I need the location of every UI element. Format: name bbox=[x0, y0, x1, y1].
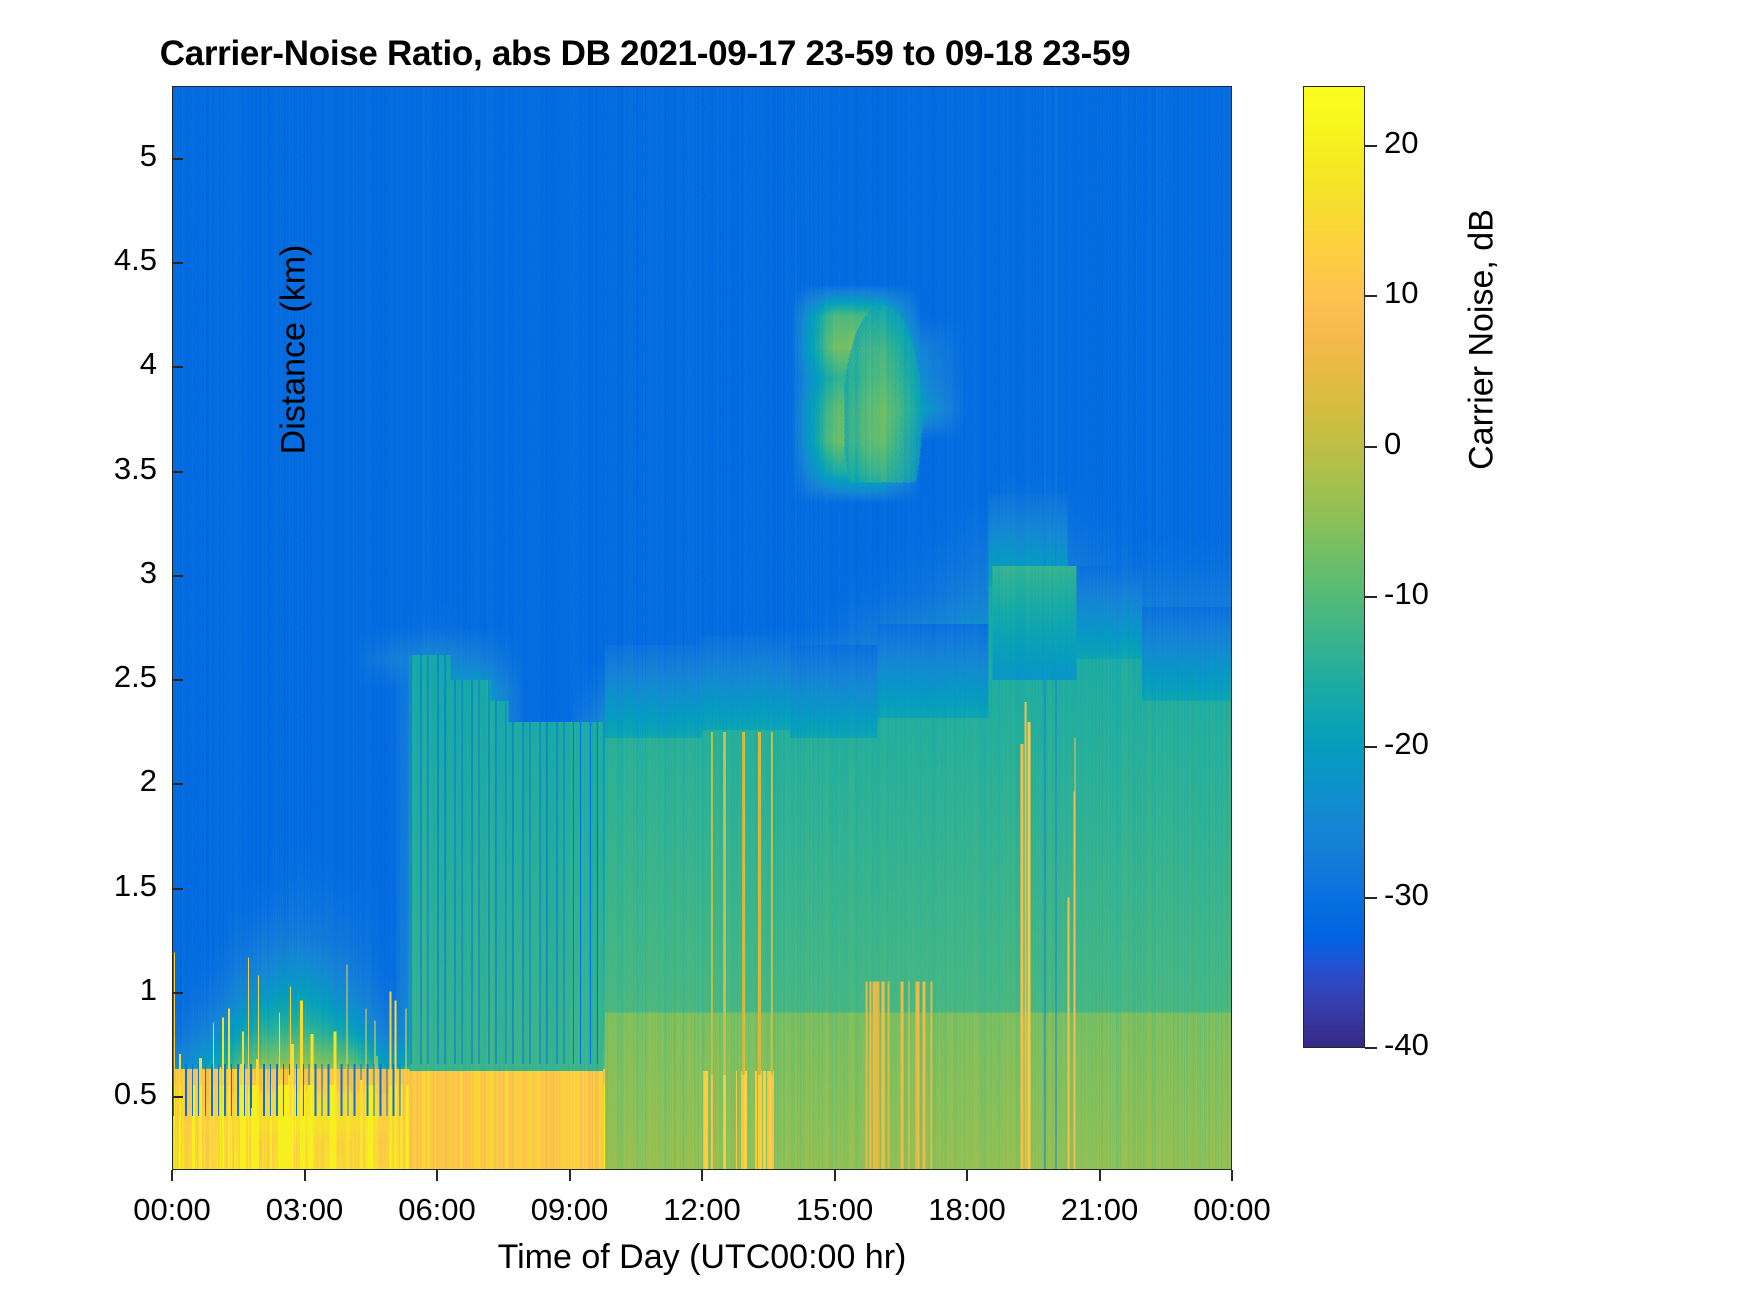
x-tick-mark bbox=[569, 1170, 571, 1181]
colorbar-tick-mark bbox=[1365, 746, 1377, 748]
colorbar-label-wrapper: Carrier Noise, dB bbox=[1452, 320, 1512, 840]
colorbar-tick-mark bbox=[1365, 446, 1377, 448]
colorbar-tick-label: -10 bbox=[1384, 576, 1429, 612]
colorbar-tick-mark bbox=[1365, 596, 1377, 598]
y-tick-label: 0.5 bbox=[0, 1076, 157, 1112]
colorbar-tick-label: 0 bbox=[1384, 426, 1401, 462]
colorbar-gradient bbox=[1304, 87, 1364, 1047]
x-tick-mark bbox=[436, 1170, 438, 1181]
colorbar-tick-mark bbox=[1365, 295, 1377, 297]
colorbar-tick-mark bbox=[1365, 897, 1377, 899]
colorbar-tick-mark bbox=[1365, 145, 1377, 147]
x-axis-label: Time of Day (UTC00:00 hr) bbox=[172, 1238, 1232, 1277]
y-tick-mark bbox=[172, 783, 183, 785]
y-tick-mark bbox=[172, 679, 183, 681]
colorbar-tick-label: 10 bbox=[1384, 275, 1418, 311]
y-tick-mark bbox=[172, 262, 183, 264]
x-tick-mark bbox=[304, 1170, 306, 1181]
y-tick-mark bbox=[172, 158, 183, 160]
colorbar-label: Carrier Noise, dB bbox=[1463, 80, 1502, 600]
heatmap-canvas bbox=[173, 87, 1231, 1169]
colorbar-tick-label: 20 bbox=[1384, 125, 1418, 161]
y-tick-mark bbox=[172, 1096, 183, 1098]
x-tick-label: 00:00 bbox=[1142, 1192, 1322, 1228]
colorbar-tick-label: -20 bbox=[1384, 726, 1429, 762]
y-tick-mark bbox=[172, 471, 183, 473]
y-tick-label: 4.5 bbox=[0, 242, 157, 278]
colorbar bbox=[1303, 86, 1365, 1048]
x-tick-mark bbox=[966, 1170, 968, 1181]
colorbar-tick-label: -40 bbox=[1384, 1027, 1429, 1063]
y-axis-label: Distance (km) bbox=[275, 70, 314, 630]
y-tick-mark bbox=[172, 888, 183, 890]
y-axis-label-wrapper: Distance (km) bbox=[26, 330, 86, 890]
heatmap-plot-area bbox=[172, 86, 1232, 1170]
x-tick-mark bbox=[701, 1170, 703, 1181]
colorbar-tick-label: -30 bbox=[1384, 877, 1429, 913]
page-title: Carrier-Noise Ratio, abs DB 2021-09-17 2… bbox=[0, 34, 1290, 74]
y-tick-label: 1 bbox=[0, 972, 157, 1008]
y-tick-mark bbox=[172, 366, 183, 368]
y-tick-mark bbox=[172, 992, 183, 994]
x-tick-mark bbox=[1099, 1170, 1101, 1181]
x-tick-mark bbox=[171, 1170, 173, 1181]
y-tick-label: 5 bbox=[0, 138, 157, 174]
x-tick-mark bbox=[1231, 1170, 1233, 1181]
colorbar-tick-mark bbox=[1365, 1047, 1377, 1049]
x-tick-mark bbox=[834, 1170, 836, 1181]
y-tick-mark bbox=[172, 575, 183, 577]
